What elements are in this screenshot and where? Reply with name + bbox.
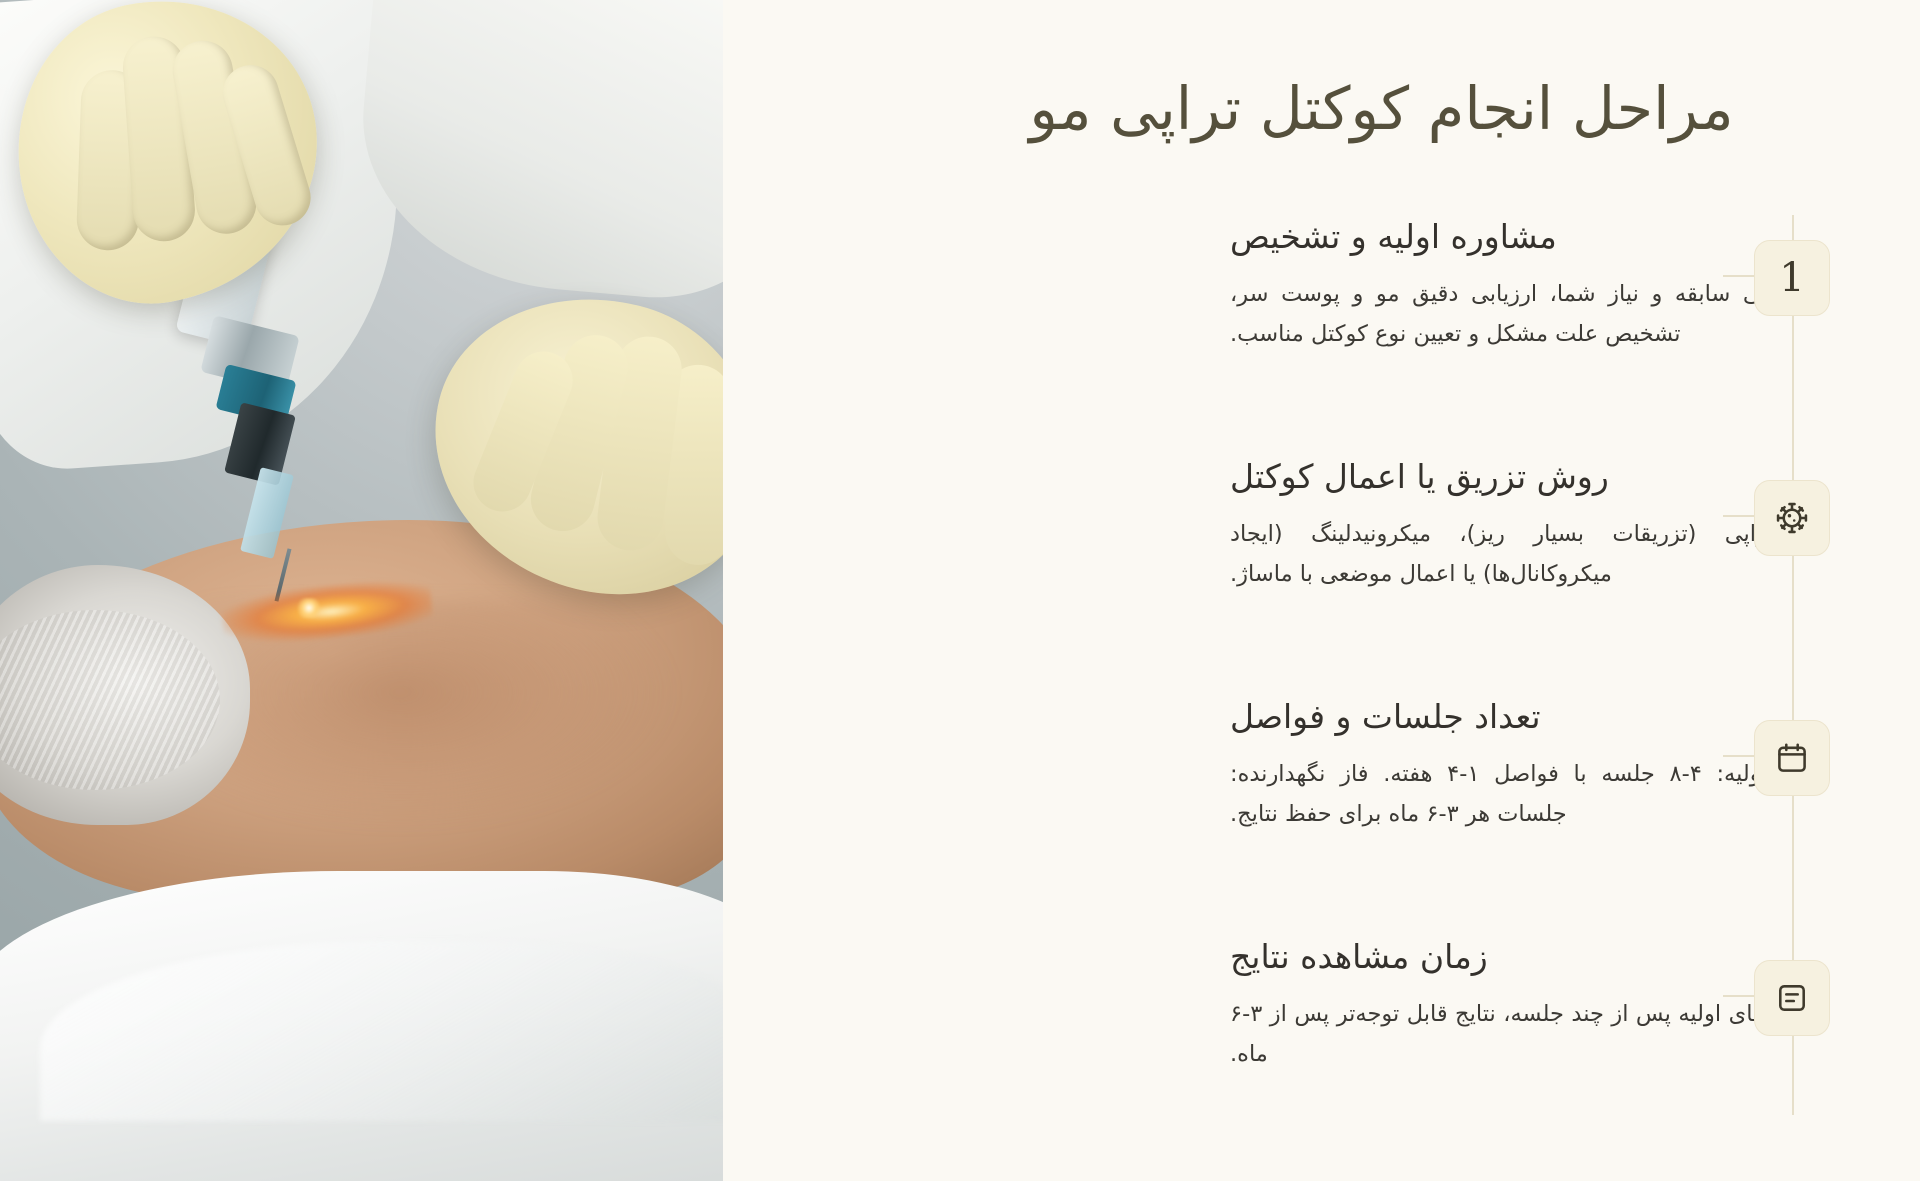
infographic-slide: مراحل انجام کوکتل تراپی مو 1 مشاوره اولی… xyxy=(0,0,1920,1181)
step-description: مزوتراپی (تزریقات بسیار ریز)، میکرونیدلی… xyxy=(1230,514,1810,596)
step-description: فاز اولیه: ۴-۸ جلسه با فواصل ۱-۴ هفته. ف… xyxy=(1230,754,1810,836)
timeline-step: روش تزریق یا اعمال کوکتل مزوتراپی (تزریق… xyxy=(723,455,1920,655)
steps-timeline: 1 مشاوره اولیه و تشخیص بررسی سابقه و نیا… xyxy=(723,215,1920,1135)
content-panel: مراحل انجام کوکتل تراپی مو 1 مشاوره اولی… xyxy=(723,0,1920,1181)
step-number: 1 xyxy=(1779,258,1804,298)
step-badge-1[interactable]: 1 xyxy=(1754,240,1830,316)
step-title: روش تزریق یا اعمال کوکتل xyxy=(1230,455,1810,500)
timeline-step: زمان مشاهده نتایج بهبودهای اولیه پس از چ… xyxy=(723,935,1920,1135)
document-lines-icon xyxy=(1774,980,1810,1016)
step-title: زمان مشاهده نتایج xyxy=(1230,935,1810,980)
step-description: بررسی سابقه و نیاز شما، ارزیابی دقیق مو … xyxy=(1230,274,1810,356)
calendar-icon xyxy=(1774,740,1810,776)
laser-glow-core xyxy=(296,598,322,618)
step-title: تعداد جلسات و فواصل xyxy=(1230,695,1810,740)
step-badge-4[interactable] xyxy=(1754,960,1830,1036)
clinical-photo xyxy=(0,0,723,1181)
step-description: بهبودهای اولیه پس از چند جلسه، نتایج قاب… xyxy=(1230,994,1810,1076)
timeline-step: تعداد جلسات و فواصل فاز اولیه: ۴-۸ جلسه … xyxy=(723,695,1920,895)
virus-cell-icon xyxy=(1773,499,1811,537)
step-badge-3[interactable] xyxy=(1754,720,1830,796)
step-title: مشاوره اولیه و تشخیص xyxy=(1230,215,1810,260)
step-badge-2[interactable] xyxy=(1754,480,1830,556)
page-title: مراحل انجام کوکتل تراپی مو xyxy=(723,72,1920,146)
timeline-step: 1 مشاوره اولیه و تشخیص بررسی سابقه و نیا… xyxy=(723,215,1920,415)
